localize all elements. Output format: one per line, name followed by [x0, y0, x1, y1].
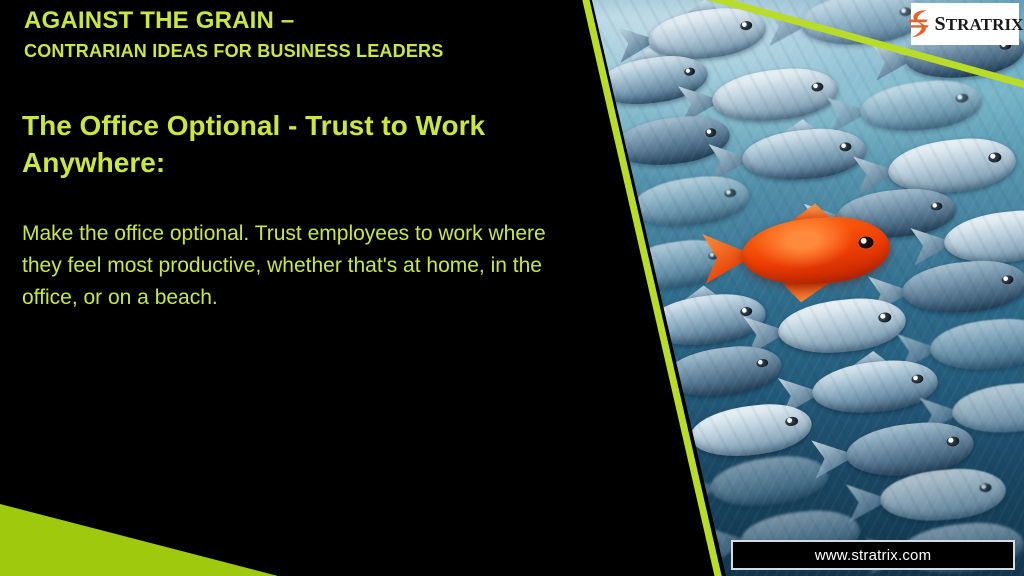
wordmark-capital: S	[934, 13, 945, 35]
fish-body	[810, 356, 941, 419]
blue-fish	[708, 451, 831, 512]
blue-fish	[740, 125, 868, 185]
orange-contrarian-fish	[740, 213, 892, 289]
blue-fish	[858, 76, 984, 136]
slide-headline: The Office Optional - Trust to Work Anyw…	[22, 108, 542, 182]
fish-body	[612, 111, 733, 171]
website-url-text: www.stratrix.com	[815, 547, 932, 564]
fish-body	[630, 171, 753, 232]
blue-fish	[662, 341, 785, 402]
slide-body-text: Make the office optional. Trust employee…	[22, 218, 570, 314]
fish-tail	[600, 190, 644, 230]
blue-fish	[630, 171, 753, 232]
fish-body	[900, 257, 1024, 318]
kicker-line-2: CONTRARIAN IDEAS FOR BUSINESS LEADERS	[24, 38, 564, 64]
stratrix-logo[interactable]: STRATRIX	[911, 3, 1019, 45]
fish-tail	[565, 70, 607, 109]
blue-fish	[878, 465, 1008, 526]
fish-body	[710, 64, 841, 127]
fish-tail	[613, 308, 658, 349]
fish-tail	[589, 254, 631, 293]
kicker-block: AGAINST THE GRAIN – CONTRARIAN IDEAS FOR…	[24, 6, 564, 64]
wordmark-rest: TRATRIX	[946, 15, 1024, 34]
kicker-line-1: AGAINST THE GRAIN –	[24, 6, 564, 36]
website-url-bar[interactable]: www.stratrix.com	[731, 540, 1015, 570]
blue-fish	[810, 356, 941, 419]
fish-body	[687, 399, 814, 463]
fish-tail	[582, 130, 625, 169]
blue-fish	[710, 64, 841, 127]
fish-body	[858, 76, 984, 136]
stratrix-swoosh-icon	[906, 8, 932, 40]
stratrix-wordmark: STRATRIX	[934, 13, 1023, 36]
fish-body	[662, 341, 785, 402]
fish-body	[878, 465, 1008, 526]
blue-fish	[687, 399, 814, 463]
fish-body	[740, 213, 892, 289]
blue-fish	[900, 257, 1024, 318]
fish-body	[928, 315, 1024, 374]
blue-fish	[776, 293, 909, 358]
fish-tail	[632, 360, 676, 400]
fish-body	[708, 451, 831, 512]
slide-canvas: AGAINST THE GRAIN – CONTRARIAN IDEAS FOR…	[0, 0, 1024, 576]
fish-body	[740, 125, 868, 185]
blue-fish	[612, 111, 733, 171]
blue-fish	[928, 315, 1024, 374]
fish-body	[776, 293, 909, 358]
